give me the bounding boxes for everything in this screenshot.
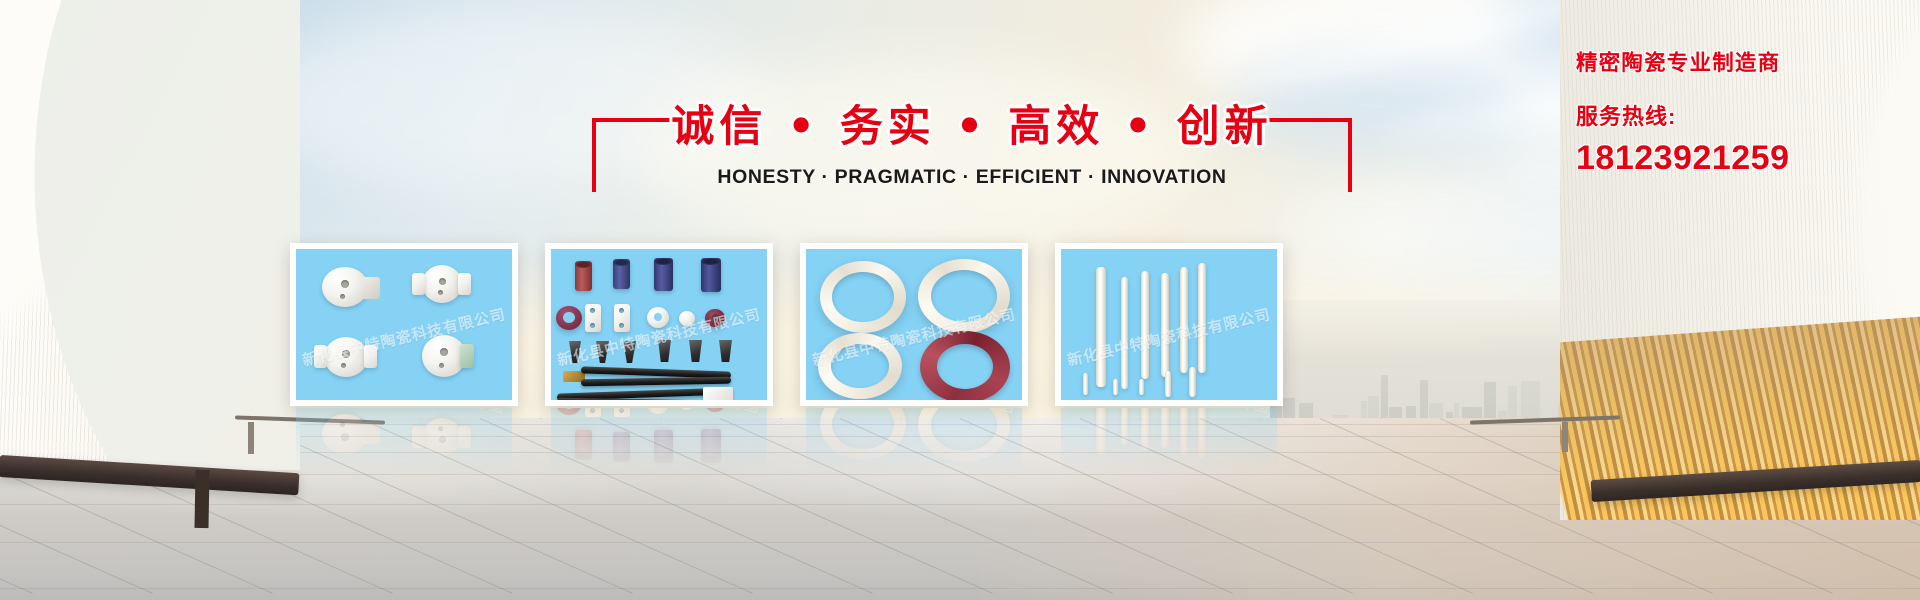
panel-reflection: 新化县中特陶瓷科技有限公司 xyxy=(1055,408,1283,478)
company-tagline: 精密陶瓷专业制造商 xyxy=(1576,46,1906,77)
product-panel-rods[interactable]: 新化县中特陶瓷科技有限公司 xyxy=(1055,243,1283,406)
hotline-label: 服务热线: xyxy=(1576,99,1906,131)
cloud-shape xyxy=(640,60,1200,250)
product-panel-rings[interactable]: 新化县中特陶瓷科技有限公司 xyxy=(800,243,1028,406)
architecture-left xyxy=(0,0,300,470)
slogan-english: HONESTY · PRAGMATIC · EFFICIENT · INNOVA… xyxy=(592,166,1352,189)
guardrail-post-left xyxy=(248,422,254,454)
product-panel-sockets[interactable]: 新化县中特陶瓷科技有限公司 xyxy=(290,243,518,406)
promo-banner: 诚信 • 务实 • 高效 • 创新 HONESTY · PRAGMATIC · … xyxy=(0,0,1920,600)
hotline-number[interactable]: 18123921259 xyxy=(1576,139,1906,178)
panel-reflection: 新化县中特陶瓷科技有限公司 xyxy=(545,408,773,478)
panel-reflection: 新化县中特陶瓷科技有限公司 xyxy=(290,408,518,478)
handrail-post-left xyxy=(194,470,209,528)
product-panel-components[interactable]: 新化县中特陶瓷科技有限公司 xyxy=(545,243,773,406)
contact-block: 精密陶瓷专业制造商 服务热线: 18123921259 xyxy=(1576,46,1906,178)
guardrail-post-right xyxy=(1562,422,1568,452)
product-panel-group: 新化县中特陶瓷科技有限公司 xyxy=(290,243,1290,408)
panel-reflection: 新化县中特陶瓷科技有限公司 xyxy=(800,408,1028,478)
slogan-chinese: 诚信 • 务实 • 高效 • 创新 xyxy=(592,92,1352,154)
